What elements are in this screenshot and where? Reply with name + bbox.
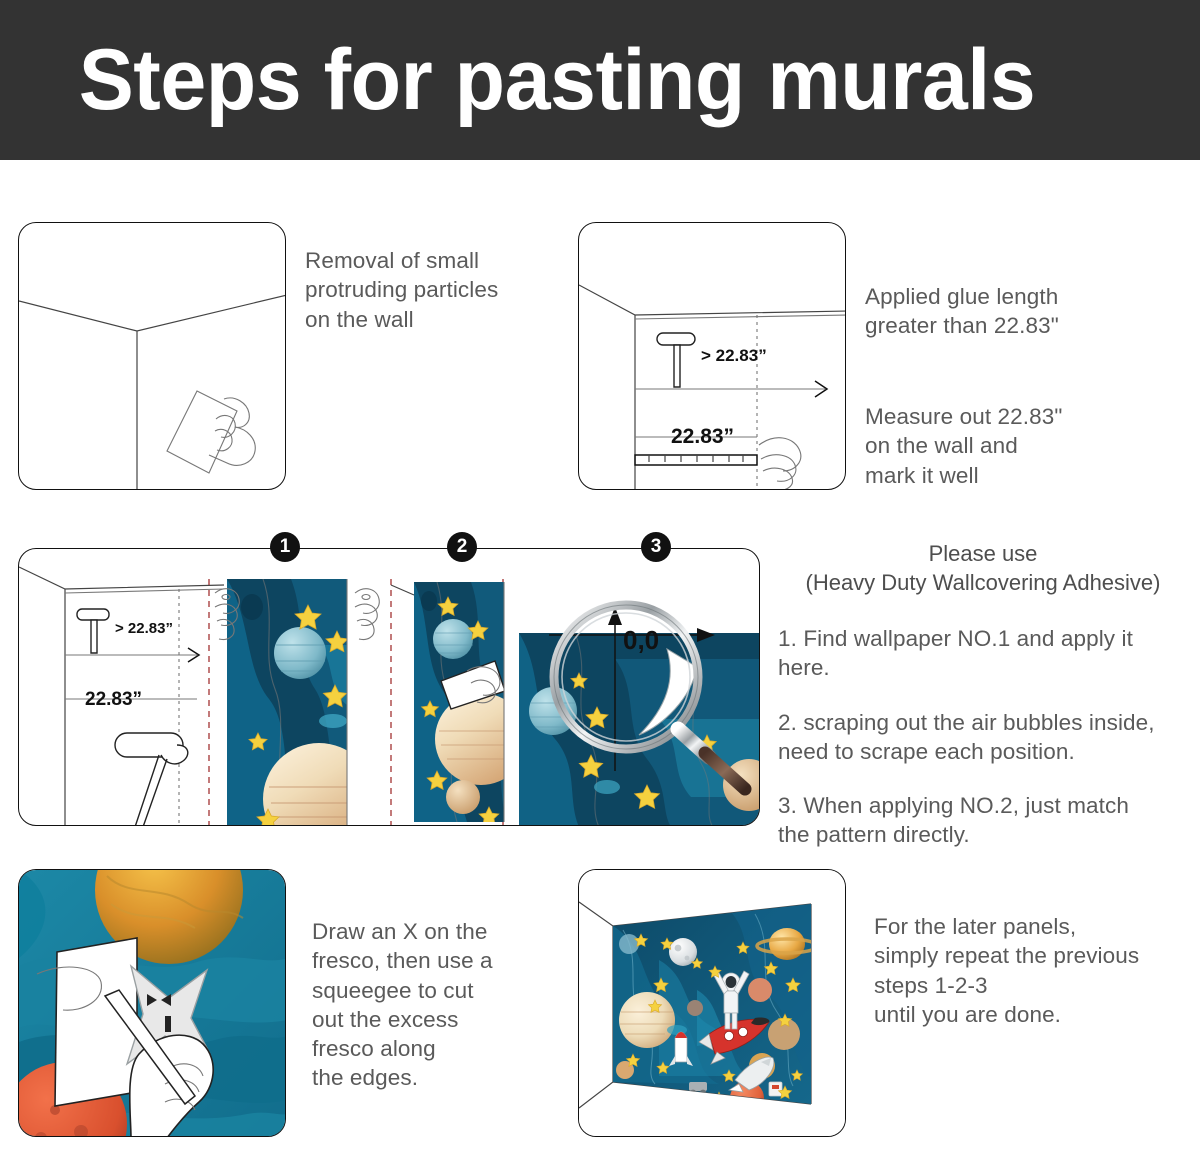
wall-measure-diagram: > 22.83” 22.83” [579, 223, 846, 490]
page-title: Steps for pasting murals [0, 37, 1035, 123]
ruler-icon [635, 455, 757, 465]
notes-header-line-1: Please use [778, 540, 1188, 569]
panel-step-prep [18, 222, 286, 490]
panel-step-trim [18, 869, 286, 1137]
notes-block: Please use (Heavy Duty Wallcovering Adhe… [778, 540, 1188, 850]
dim-gt-label-2: > 22.83” [115, 620, 173, 637]
dim-exact-label-2: 22.83” [85, 689, 142, 710]
note-item-3: 3. When applying NO.2, just match the pa… [778, 791, 1188, 850]
note-item-1: 1. Find wallpaper NO.1 and apply it here… [778, 624, 1188, 683]
page-header: Steps for pasting murals [0, 0, 1200, 160]
wall-measure-group: > 22.83” 22.83” [19, 567, 224, 826]
wall-corner-icon [19, 223, 286, 490]
badge-step-1: 1 [270, 532, 300, 562]
badge-step-2: 2 [447, 532, 477, 562]
hand-icon [355, 589, 379, 640]
panel-step-glue: > 22.83” 22.83” [578, 222, 846, 490]
hand-scraper-icon [167, 391, 255, 473]
caption-step-prep: Removal of small protruding particles on… [305, 246, 565, 334]
finished-mural-icon [579, 870, 846, 1137]
caption-step-repeat: For the later panels, simply repeat the … [874, 912, 1194, 1029]
glue-roller-icon [657, 333, 695, 387]
origin-label: 0,0 [623, 625, 659, 655]
apply-sequence-diagram: > 22.83” 22.83” [19, 549, 760, 826]
caption-measure-mark: Measure out 22.83" on the wall and mark … [865, 402, 1165, 490]
notes-header-line-2: (Heavy Duty Wallcovering Adhesive) [778, 569, 1188, 598]
caption-step-trim: Draw an X on the fresco, then use a sque… [312, 917, 574, 1093]
mural-strip-2 [414, 582, 531, 825]
dim-exact-label: 22.83” [671, 425, 734, 448]
glue-roller-icon [77, 609, 109, 653]
panel-step-repeat [578, 869, 846, 1137]
instruction-sheet: Steps for pasting murals Removal of smal… [0, 0, 1200, 1152]
badge-step-3: 3 [641, 532, 671, 562]
caption-glue-length: Applied glue length greater than 22.83" [865, 282, 1165, 341]
note-item-2: 2. scraping out the air bubbles inside, … [778, 708, 1188, 767]
trim-diagram [19, 870, 286, 1137]
hand-icon [759, 438, 801, 490]
paint-roller-icon [115, 733, 188, 826]
dim-gt-label: > 22.83” [701, 346, 767, 365]
mural-strip-1 [227, 579, 375, 826]
panel-step-apply: > 22.83” 22.83” [18, 548, 760, 826]
